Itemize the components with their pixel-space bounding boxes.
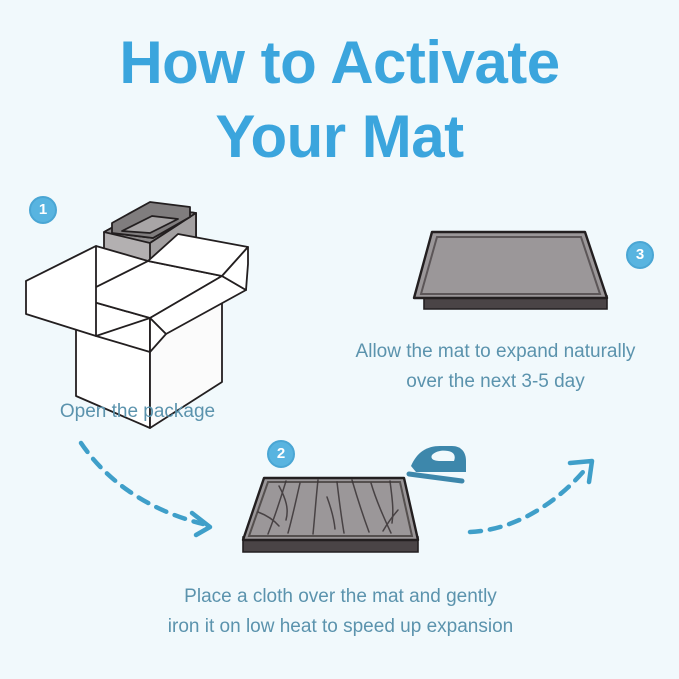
title-line-2: Your Mat bbox=[0, 100, 679, 174]
page-title: How to Activate Your Mat bbox=[0, 26, 679, 174]
arrow-step1-to-step2 bbox=[81, 443, 203, 524]
arrow-step1-to-step2-head bbox=[192, 513, 210, 535]
step-3-caption-line-1: Allow the mat to expand naturally bbox=[312, 337, 679, 367]
step-badge-2: 2 bbox=[267, 440, 295, 468]
step-badge-1: 1 bbox=[29, 196, 57, 224]
step-2-caption-line-1: Place a cloth over the mat and gently bbox=[112, 582, 569, 612]
arrow-step2-to-step3 bbox=[470, 466, 588, 532]
step-1-box-illustration bbox=[26, 202, 248, 428]
step-3-caption: Allow the mat to expand naturally over t… bbox=[312, 337, 679, 397]
title-line-1: How to Activate bbox=[0, 26, 679, 100]
step-2-wrinkled-mat-illustration bbox=[243, 478, 418, 552]
step-2-caption-line-2: iron it on low heat to speed up expansio… bbox=[112, 612, 569, 642]
iron-icon bbox=[409, 446, 466, 481]
step-3-caption-line-2: over the next 3-5 day bbox=[312, 367, 679, 397]
arrow-step2-to-step3-head bbox=[570, 461, 592, 482]
step-badge-3: 3 bbox=[626, 241, 654, 269]
infographic-canvas: How to Activate Your Mat bbox=[0, 0, 679, 679]
step-1-caption-line-1: Open the package bbox=[10, 397, 265, 427]
step-2-caption: Place a cloth over the mat and gently ir… bbox=[112, 582, 569, 642]
rolled-mat-in-box bbox=[104, 202, 196, 300]
step-3-flat-mat-illustration bbox=[414, 232, 607, 309]
step-1-caption: Open the package bbox=[10, 397, 265, 427]
